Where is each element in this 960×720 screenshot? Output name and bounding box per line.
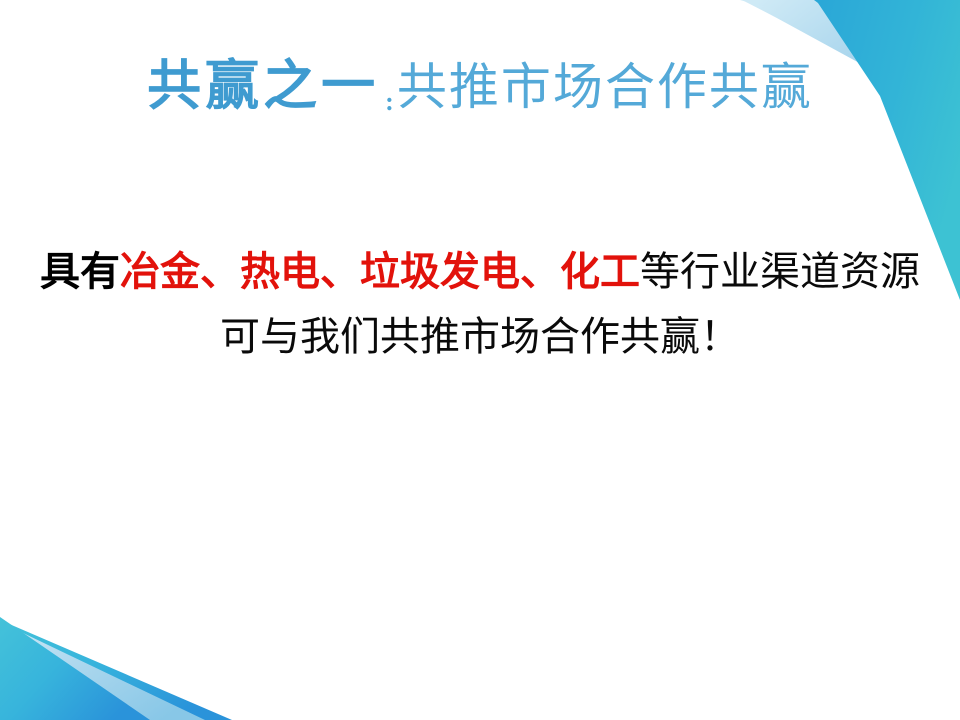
title-separator: : bbox=[379, 87, 397, 116]
slide-canvas: 共赢之一:共推市场合作共赢 具有冶金、热电、垃圾发电、化工等行业渠道资源 可与我… bbox=[0, 0, 960, 720]
body-line-2: 可与我们共推市场合作共赢！ bbox=[0, 305, 960, 370]
body-line-1: 具有冶金、热电、垃圾发电、化工等行业渠道资源 bbox=[0, 240, 960, 305]
title-main-text: 共赢之一 bbox=[147, 53, 379, 117]
body-line2-text: 可与我们共推市场合作共赢！ bbox=[220, 315, 740, 359]
title-sub-text: 共推市场合作共赢 bbox=[397, 59, 813, 115]
body-line1-prefix: 具有 bbox=[40, 250, 120, 294]
slide-body: 具有冶金、热电、垃圾发电、化工等行业渠道资源 可与我们共推市场合作共赢！ bbox=[0, 240, 960, 370]
decoration-bottom-left bbox=[0, 617, 246, 720]
body-line1-highlight: 冶金、热电、垃圾发电、化工 bbox=[120, 250, 640, 294]
slide-title: 共赢之一:共推市场合作共赢 bbox=[0, 58, 960, 112]
body-line1-suffix: 等行业渠道资源 bbox=[640, 250, 920, 294]
